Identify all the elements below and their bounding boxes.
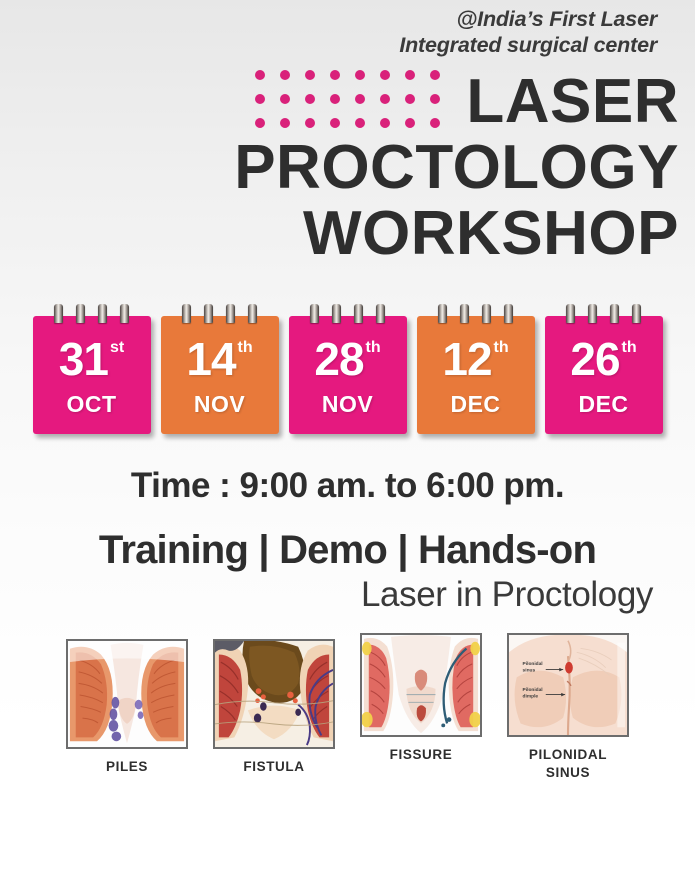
workshop-dates-list: 31stOCT14thNOV28thNOV12thDEC26thDEC xyxy=(0,304,695,434)
calendar-card[interactable]: 14thNOV xyxy=(161,316,279,434)
spiral-ring xyxy=(182,304,191,323)
calendar-spiral-binding-icon xyxy=(545,304,663,324)
spiral-ring xyxy=(120,304,129,323)
date-day: 31 xyxy=(59,336,108,382)
condition-pilonidal-label: PILONIDAL SINUS xyxy=(507,746,629,782)
title-block: LASER PROCTOLOGY WORKSHOP xyxy=(0,70,695,266)
dot xyxy=(330,118,340,128)
spiral-ring xyxy=(610,304,619,323)
spiral-ring xyxy=(332,304,341,323)
spiral-ring xyxy=(632,304,641,323)
spiral-ring xyxy=(248,304,257,323)
calendar-spiral-binding-icon xyxy=(289,304,407,324)
workshop-time: Time : 9:00 am. to 6:00 pm. xyxy=(0,466,695,506)
date-ordinal-suffix: th xyxy=(366,340,381,356)
spiral-ring xyxy=(354,304,363,323)
condition-piles: PILES xyxy=(66,639,188,776)
condition-fistula: FISTULA xyxy=(213,639,335,776)
spiral-ring xyxy=(76,304,85,323)
dot xyxy=(255,118,265,128)
date-card-28-nov[interactable]: 28thNOV xyxy=(289,304,407,434)
dot xyxy=(305,118,315,128)
title-line-1: LASER xyxy=(466,70,679,134)
dot xyxy=(255,94,265,104)
svg-text:Pilonidal: Pilonidal xyxy=(523,687,543,693)
spiral-ring xyxy=(98,304,107,323)
conditions-gallery: PILES xyxy=(0,639,695,782)
spiral-ring xyxy=(438,304,447,323)
date-month: OCT xyxy=(66,391,116,418)
spiral-ring xyxy=(54,304,63,323)
condition-piles-illustration xyxy=(66,639,188,749)
decorative-dot-grid-icon xyxy=(255,70,440,128)
dot xyxy=(305,70,315,80)
dot xyxy=(255,70,265,80)
date-day-group: 31st xyxy=(59,336,124,382)
date-day: 28 xyxy=(314,336,363,382)
title-row-laser: LASER xyxy=(0,70,679,134)
dot xyxy=(430,94,440,104)
calendar-spiral-binding-icon xyxy=(161,304,279,324)
calendar-card[interactable]: 26thDEC xyxy=(545,316,663,434)
spiral-ring xyxy=(226,304,235,323)
condition-fissure: FISSURE xyxy=(360,633,482,764)
dot xyxy=(280,118,290,128)
dot xyxy=(280,94,290,104)
calendar-spiral-binding-icon xyxy=(417,304,535,324)
calendar-spiral-binding-icon xyxy=(33,304,151,324)
condition-pilonidal: Pilonidal sinus Pilonidal dimple PILONID… xyxy=(507,633,629,782)
date-month: NOV xyxy=(322,391,373,418)
date-card-31-oct[interactable]: 31stOCT xyxy=(33,304,151,434)
date-month: NOV xyxy=(194,391,245,418)
condition-fissure-illustration xyxy=(360,633,482,737)
title-line-2: PROCTOLOGY xyxy=(234,133,679,202)
condition-fistula-illustration xyxy=(213,639,335,749)
program-subject: Laser in Proctology xyxy=(0,575,695,615)
calendar-card[interactable]: 28thNOV xyxy=(289,316,407,434)
spiral-ring xyxy=(504,304,513,323)
date-card-12-dec[interactable]: 12thDEC xyxy=(417,304,535,434)
dot xyxy=(355,94,365,104)
spiral-ring xyxy=(588,304,597,323)
date-ordinal-suffix: th xyxy=(622,340,637,356)
dot xyxy=(305,94,315,104)
spiral-ring xyxy=(376,304,385,323)
dot xyxy=(330,94,340,104)
calendar-card[interactable]: 31stOCT xyxy=(33,316,151,434)
svg-text:sinus: sinus xyxy=(523,668,536,674)
date-ordinal-suffix: th xyxy=(494,340,509,356)
spiral-ring xyxy=(310,304,319,323)
spiral-ring xyxy=(204,304,213,323)
svg-text:Pilonidal: Pilonidal xyxy=(523,661,543,667)
dot xyxy=(430,118,440,128)
date-day-group: 28th xyxy=(314,336,380,382)
condition-fistula-label: FISTULA xyxy=(213,758,335,776)
date-card-26-dec[interactable]: 26thDEC xyxy=(545,304,663,434)
spiral-ring xyxy=(566,304,575,323)
date-day: 26 xyxy=(570,336,619,382)
date-day-group: 12th xyxy=(442,336,508,382)
dot xyxy=(280,70,290,80)
dot xyxy=(380,70,390,80)
dot xyxy=(405,118,415,128)
dot xyxy=(355,118,365,128)
svg-text:dimple: dimple xyxy=(523,694,539,700)
spiral-ring xyxy=(482,304,491,323)
dot xyxy=(430,70,440,80)
tagline-line-1: @India’s First Laser xyxy=(0,6,657,32)
title-row-workshop: WORKSHOP xyxy=(0,202,679,266)
title-line-3: WORKSHOP xyxy=(303,199,679,268)
date-ordinal-suffix: st xyxy=(110,340,124,356)
date-day: 12 xyxy=(442,336,491,382)
date-month: DEC xyxy=(450,391,500,418)
dot xyxy=(330,70,340,80)
tagline-line-2: Integrated surgical center xyxy=(0,32,657,58)
dot xyxy=(355,70,365,80)
header-tagline: @India’s First Laser Integrated surgical… xyxy=(0,0,695,58)
date-day-group: 26th xyxy=(570,336,636,382)
calendar-card[interactable]: 12thDEC xyxy=(417,316,535,434)
dot xyxy=(380,94,390,104)
dot xyxy=(380,118,390,128)
condition-fissure-label: FISSURE xyxy=(360,746,482,764)
date-card-14-nov[interactable]: 14thNOV xyxy=(161,304,279,434)
program-modes: Training | Demo | Hands-on xyxy=(0,528,695,573)
date-day: 14 xyxy=(186,336,235,382)
dot xyxy=(405,94,415,104)
date-ordinal-suffix: th xyxy=(238,340,253,356)
date-month: DEC xyxy=(578,391,628,418)
spiral-ring xyxy=(460,304,469,323)
dot xyxy=(405,70,415,80)
title-row-proctology: PROCTOLOGY xyxy=(0,136,679,200)
condition-pilonidal-illustration: Pilonidal sinus Pilonidal dimple xyxy=(507,633,629,737)
date-day-group: 14th xyxy=(186,336,252,382)
condition-piles-label: PILES xyxy=(66,758,188,776)
